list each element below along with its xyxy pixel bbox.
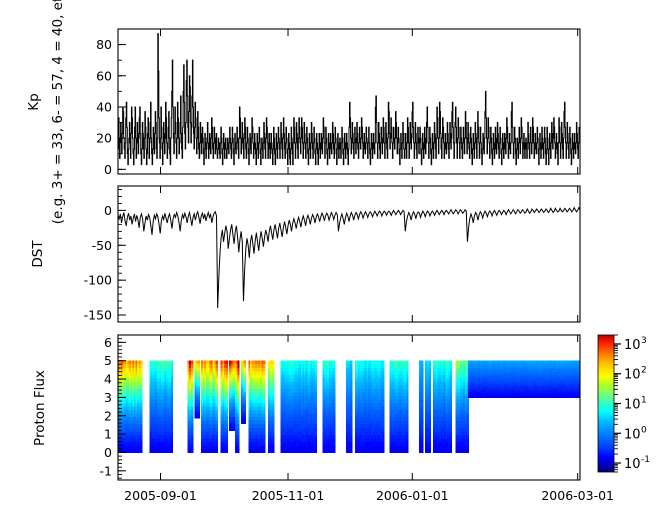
panel-dst-y-tick-label: -50 — [92, 238, 112, 253]
multi-panel-plot: 020406080 Kp (e.g. 3+ = 33, 6- = 57, 4 =… — [0, 0, 665, 523]
panel-dst-y-tick-label: -150 — [84, 308, 112, 323]
heatmap-cell — [273, 449, 275, 453]
heatmap-cell — [350, 449, 352, 453]
heatmap-cell — [233, 428, 235, 431]
heatmap-cell — [382, 449, 384, 453]
panel-dst-y-tick-label: 0 — [104, 203, 112, 218]
panel-kp-y-tick-label: 80 — [96, 37, 112, 52]
panel-kp-axis-title: Kp — [26, 93, 42, 110]
heatmap-cell — [238, 449, 240, 453]
panel-kp-y-tick-label: 60 — [96, 68, 112, 83]
heatmap-cell — [198, 415, 200, 418]
figure-container: 020406080 Kp (e.g. 3+ = 33, 6- = 57, 4 =… — [0, 0, 665, 523]
heatmap-cell — [315, 449, 317, 453]
heatmap-cell — [263, 449, 265, 453]
panel-dst-axis-title: DST — [30, 240, 46, 268]
panel-kp-axis-note: (e.g. 3+ = 33, 6- = 57, 4 = 40, etc.) — [50, 0, 66, 224]
heatmap-cell — [407, 449, 409, 453]
heatmap-cell — [171, 449, 173, 453]
panel-kp-y-tick-label: 40 — [96, 99, 112, 114]
heatmap-cell — [421, 449, 423, 453]
heatmap-cell — [191, 449, 193, 453]
heatmap-cell — [467, 449, 469, 453]
heatmap-cell — [244, 421, 246, 424]
panel-kp-y-tick-label: 0 — [104, 162, 112, 177]
heatmap-cell — [334, 449, 336, 453]
panel-kp-y-tick-label: 20 — [96, 131, 112, 146]
panel-dst-y-tick-label: -100 — [84, 273, 112, 288]
heatmap-cell — [216, 449, 218, 453]
heatmap-cell — [140, 449, 142, 453]
heatmap-cell — [450, 449, 452, 453]
heatmap-cell — [226, 449, 228, 453]
heatmap-cell — [429, 449, 431, 453]
